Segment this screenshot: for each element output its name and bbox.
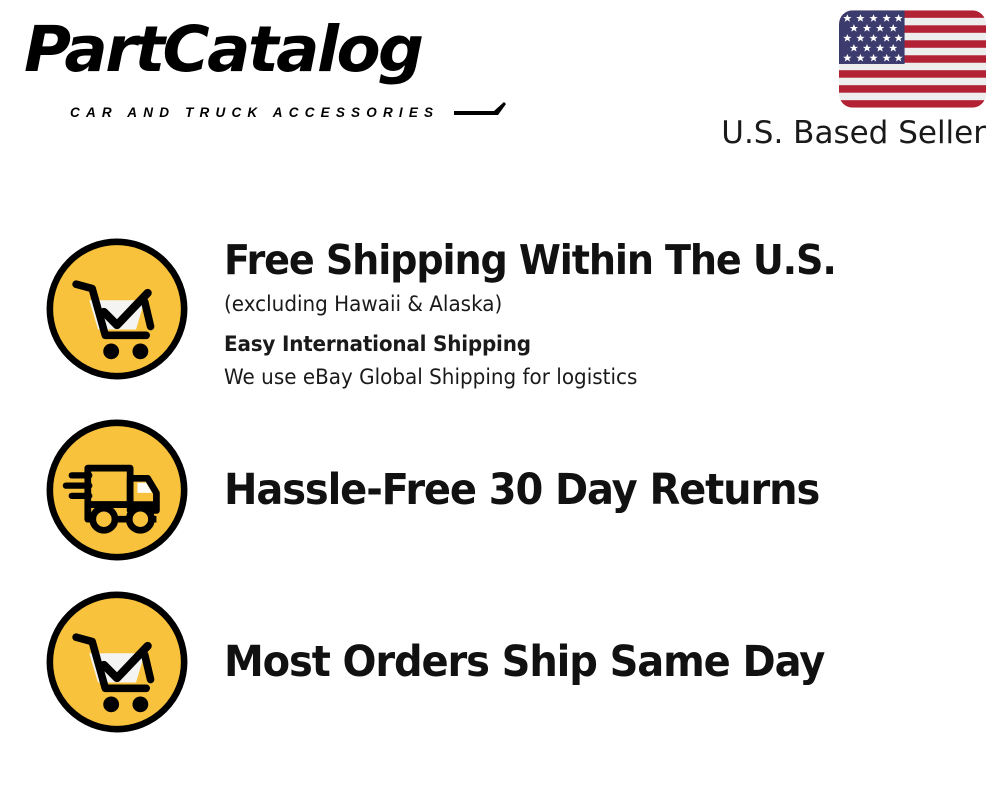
brand-wordmark: PartCatalog — [24, 18, 421, 81]
feature-text-free-shipping: Free Shipping Within The U.S. (excluding… — [190, 236, 1000, 391]
feature-detail: We use eBay Global Shipping for logistic… — [224, 363, 961, 391]
brand-tagline: CAR AND TRUCK ACCESSORIES — [70, 106, 439, 120]
feature-row-returns: Hassle-Free 30 Day Returns — [0, 417, 1000, 563]
feature-row-free-shipping: Free Shipping Within The U.S. (excluding… — [0, 236, 1000, 391]
feature-note: (excluding Hawaii & Alaska) — [224, 290, 961, 318]
feature-title: Most Orders Ship Same Day — [224, 638, 946, 686]
feature-text-same-day: Most Orders Ship Same Day — [190, 638, 1000, 686]
feature-list: Free Shipping Within The U.S. (excluding… — [0, 236, 1000, 735]
feature-title: Free Shipping Within The U.S. — [224, 238, 946, 284]
delivery-truck-icon — [44, 417, 190, 563]
shopping-cart-check-icon — [44, 236, 190, 382]
us-based-seller-label: U.S. Based Seller — [716, 116, 986, 150]
feature-title: Hassle-Free 30 Day Returns — [224, 466, 946, 514]
logo-swoosh-icon — [454, 102, 506, 118]
shopping-cart-check-icon — [44, 589, 190, 735]
feature-text-returns: Hassle-Free 30 Day Returns — [190, 466, 1000, 514]
seller-info-banner: PartCatalog CAR AND TRUCK ACCESSORIES — [0, 0, 1000, 800]
us-based-seller-badge: U.S. Based Seller — [716, 10, 986, 150]
feature-row-same-day: Most Orders Ship Same Day — [0, 589, 1000, 735]
us-flag-icon — [839, 10, 986, 108]
brand-logo[interactable]: PartCatalog CAR AND TRUCK ACCESSORIES — [24, 18, 494, 118]
feature-subtitle: Easy International Shipping — [224, 330, 961, 358]
